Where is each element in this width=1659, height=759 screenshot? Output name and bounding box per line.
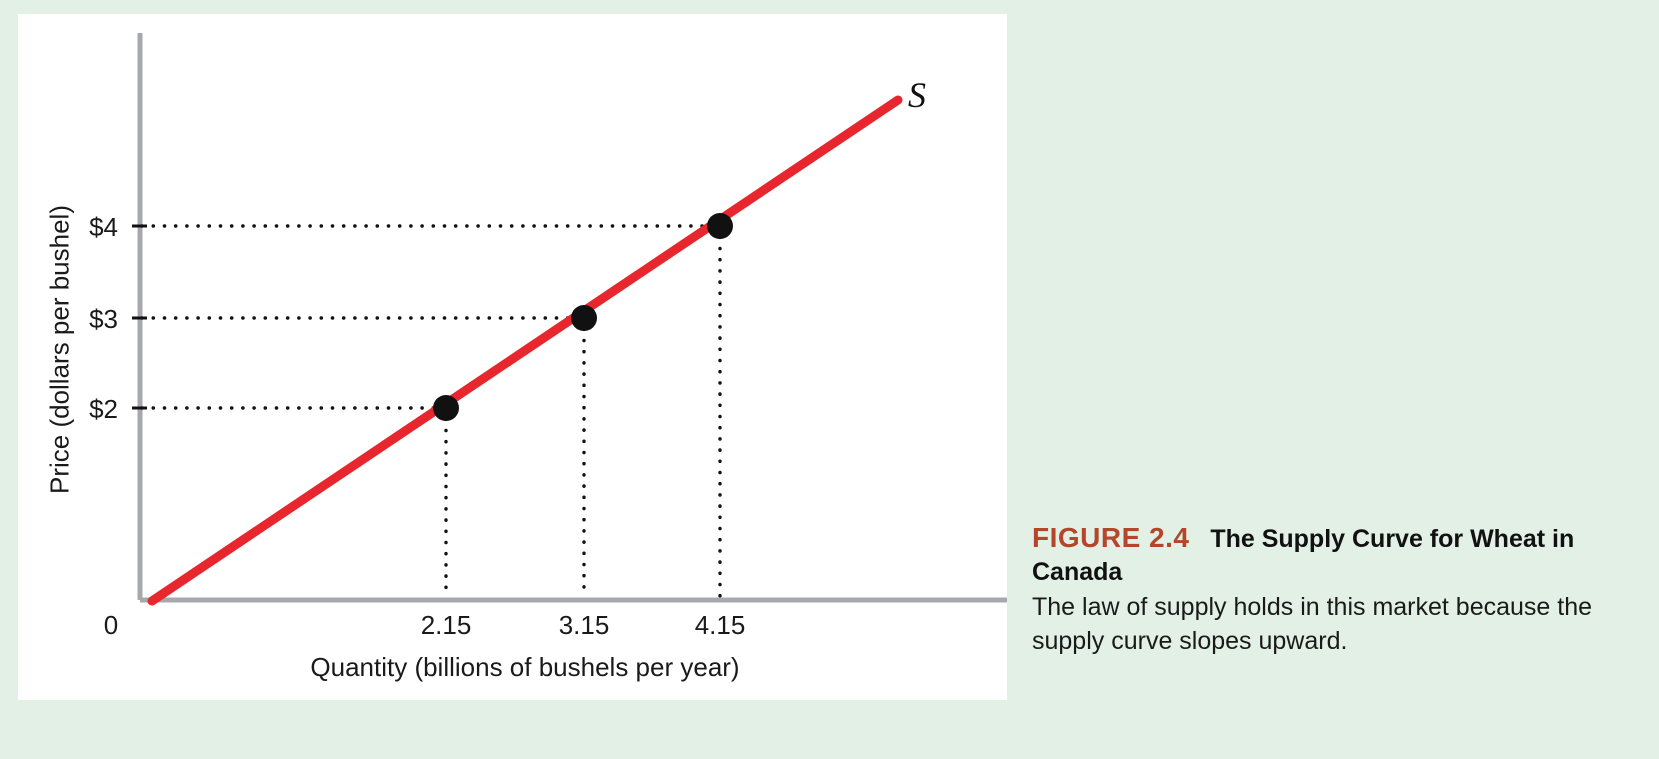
x-tick-label-315: 3.15 (539, 610, 629, 641)
x-tick-label-215: 2.15 (401, 610, 491, 641)
y-tick-label-3: $3 (56, 304, 118, 335)
caption-heading-line: FIGURE 2.4 The Supply Curve for Wheat in… (1032, 520, 1632, 589)
y-axis-title: Price (dollars per bushel) (45, 140, 76, 560)
data-point-marker (571, 305, 597, 331)
x-tick-label-415: 4.15 (675, 610, 765, 641)
supply-curve-line (152, 100, 898, 601)
figure-panel: Price (dollars per bushel) $4 $3 $2 0 2.… (18, 14, 1007, 700)
data-point-marker (707, 213, 733, 239)
supply-curve-label: S (908, 74, 926, 116)
figure-caption: FIGURE 2.4 The Supply Curve for Wheat in… (1032, 520, 1632, 658)
caption-body-text: The law of supply holds in this market b… (1032, 589, 1632, 658)
x-axis-title: Quantity (billions of bushels per year) (140, 652, 910, 683)
data-point-marker (433, 395, 459, 421)
y-tick-label-2: $2 (56, 394, 118, 425)
supply-curve-chart (18, 14, 1007, 700)
figure-number-label: FIGURE 2.4 (1032, 522, 1189, 553)
y-tick-label-4: $4 (56, 212, 118, 243)
origin-label: 0 (96, 610, 126, 641)
